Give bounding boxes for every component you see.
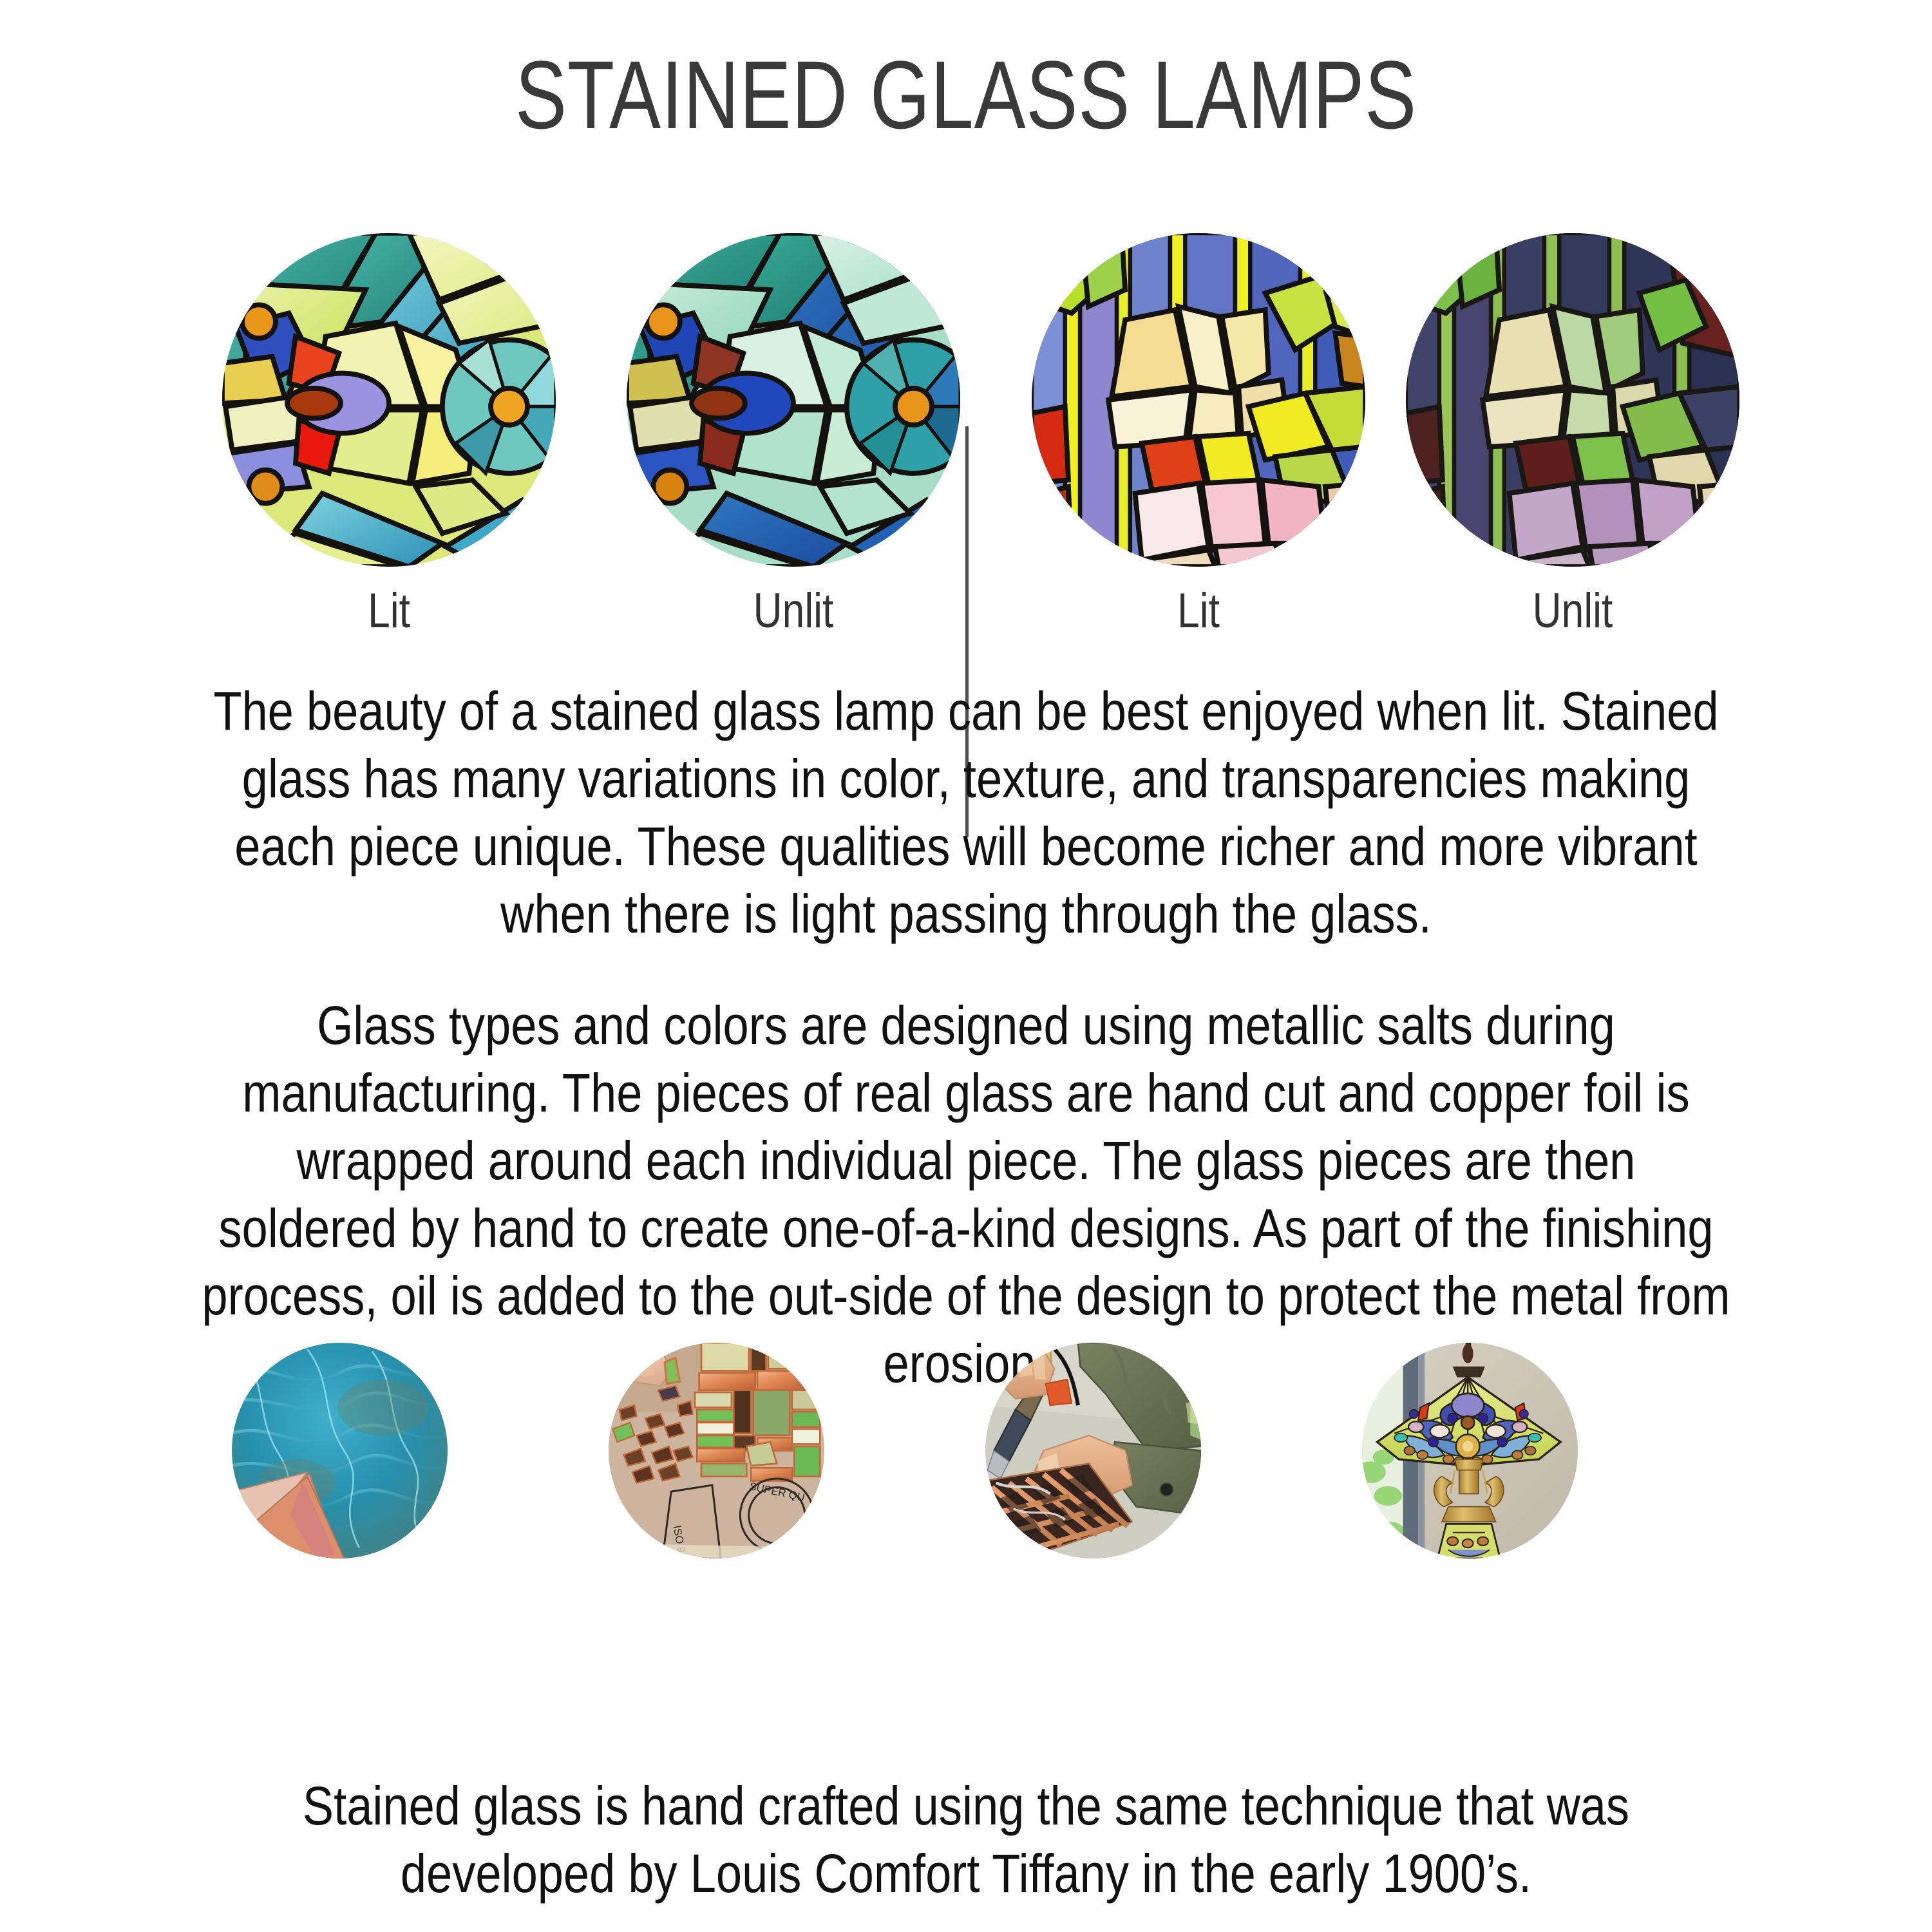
copper-foil-pieces-image-icon: SUPER QU ISO 9001:20 CE — [609, 1343, 824, 1558]
infographic-page: STAINED GLASS LAMPS — [0, 0, 1932, 1932]
comparison-label-row: Lit Unlit Lit Unlit — [0, 583, 1932, 654]
intro-paragraph: The beauty of a stained glass lamp can b… — [202, 677, 1730, 948]
raw-glass-sheet-image-icon — [232, 1343, 448, 1558]
process-image-row: SUPER QU ISO 9001:20 CE — [0, 1343, 1932, 1565]
stained-glass-floral-lit-icon — [1032, 233, 1365, 567]
stained-glass-closeup-lit-icon — [222, 233, 556, 567]
stained-glass-floral-unlit-icon — [1406, 233, 1739, 567]
soldering-iron-image-icon — [985, 1343, 1201, 1558]
process-paragraph: Glass types and colors are designed usin… — [202, 992, 1730, 1397]
label-unlit-floral: Unlit — [1436, 583, 1710, 639]
label-lit-geometric: Lit — [252, 583, 526, 639]
closing-paragraph: Stained glass is hand crafted using the … — [202, 1772, 1730, 1908]
label-lit-floral: Lit — [1062, 583, 1336, 639]
comparison-image-row — [0, 233, 1932, 574]
finished-tiffany-lamp-image-icon — [1362, 1343, 1578, 1558]
page-title: STAINED GLASS LAMPS — [193, 46, 1739, 143]
stained-glass-closeup-unlit-icon — [627, 233, 960, 567]
svg-text:CE: CE — [800, 1524, 814, 1535]
label-unlit-geometric: Unlit — [657, 583, 931, 639]
